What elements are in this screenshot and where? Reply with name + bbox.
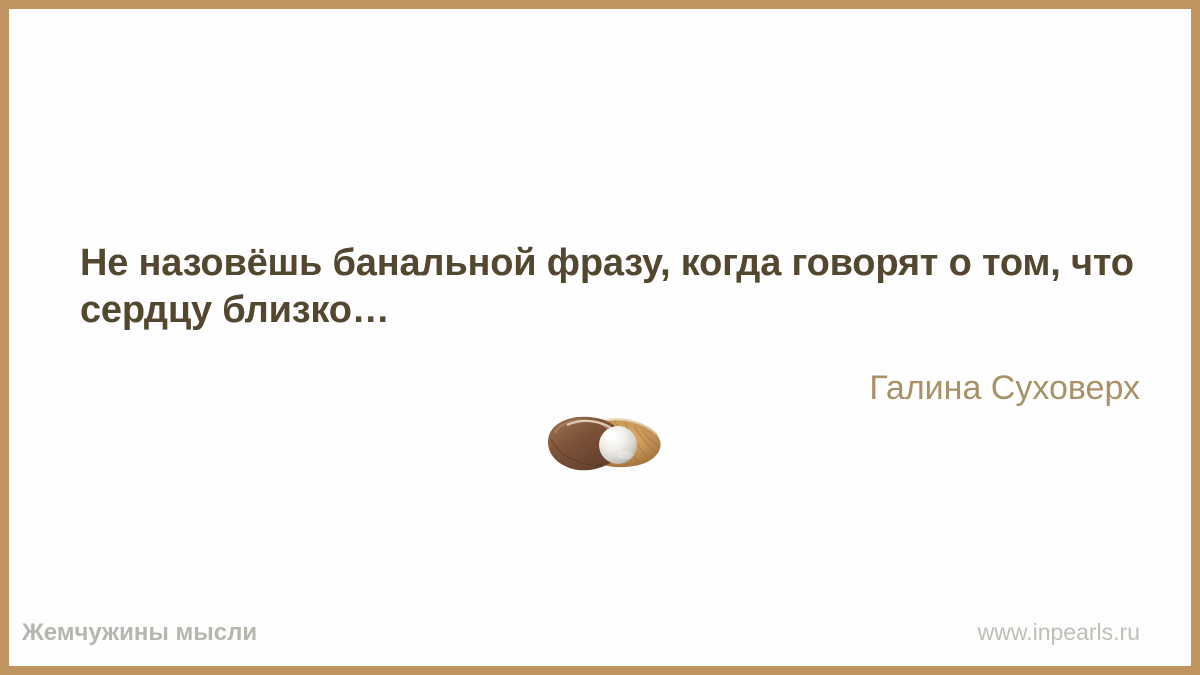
quote-author: Галина Суховерх [869, 368, 1140, 408]
site-url[interactable]: www.inpearls.ru [978, 619, 1140, 646]
site-title: Жемчужины мысли [22, 619, 257, 647]
seashell-with-pearl-icon [545, 405, 667, 475]
quote-text: Не назовёшь банальной фразу, когда говор… [80, 240, 1140, 334]
quote-card: Не назовёшь банальной фразу, когда говор… [0, 0, 1200, 675]
